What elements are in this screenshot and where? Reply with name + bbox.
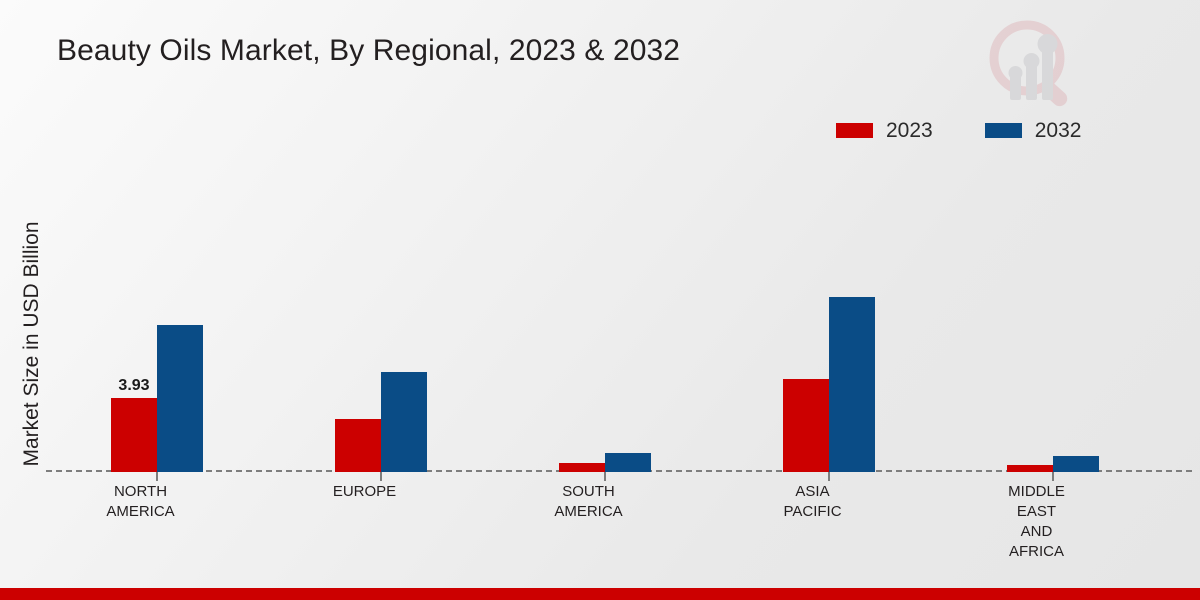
- axis-tick: [380, 472, 382, 481]
- category-line: EAST: [957, 502, 1117, 522]
- chart-title: Beauty Oils Market, By Regional, 2023 & …: [57, 34, 680, 68]
- axis-tick: [156, 472, 158, 481]
- legend-swatch-2032: [985, 123, 1022, 138]
- category-line: EUROPE: [285, 482, 445, 502]
- legend-label-2032: 2032: [1035, 120, 1082, 141]
- category-label-europe: EUROPE: [285, 482, 445, 502]
- bar-2032-south-america[interactable]: [605, 453, 651, 472]
- bar-2032-north-america[interactable]: [157, 325, 203, 472]
- bar-2023-europe[interactable]: [335, 419, 381, 472]
- category-line: SOUTH: [509, 482, 669, 502]
- footer-stripe: [0, 588, 1200, 600]
- bar-2023-south-america[interactable]: [559, 463, 605, 472]
- chart-canvas: Beauty Oils Market, By Regional, 2023 & …: [0, 0, 1200, 600]
- bar-group-asia-pacific: ASIA PACIFIC: [782, 170, 876, 472]
- legend-swatch-2023: [836, 123, 873, 138]
- category-line: PACIFIC: [733, 502, 893, 522]
- category-line: AND: [957, 522, 1117, 542]
- category-line: AMERICA: [509, 502, 669, 522]
- bar-group-north-america: 3.93 NORTH AMERICA: [110, 170, 204, 472]
- magnifier-icon: [994, 25, 1070, 109]
- plot-area: 3.93 NORTH AMERICA EUROPE SOUTH: [46, 170, 1192, 472]
- chart-legend: 2023 2032: [836, 120, 1081, 141]
- y-axis-title: Market Size in USD Billion: [20, 164, 44, 524]
- bar-2023-middle-east-and-africa[interactable]: [1007, 465, 1053, 472]
- bar-2023-north-america[interactable]: 3.93: [111, 398, 157, 472]
- category-line: ASIA: [733, 482, 893, 502]
- bar-chart-icon: [1009, 34, 1058, 100]
- bar-2032-middle-east-and-africa[interactable]: [1053, 456, 1099, 472]
- category-label-south-america: SOUTH AMERICA: [509, 482, 669, 522]
- bar-value-label: 3.93: [118, 377, 149, 395]
- axis-tick: [604, 472, 606, 481]
- category-line: NORTH: [61, 482, 221, 502]
- category-line: AMERICA: [61, 502, 221, 522]
- legend-item-2023[interactable]: 2023: [836, 120, 933, 141]
- bar-group-middle-east-and-africa: MIDDLE EAST AND AFRICA: [1006, 170, 1100, 472]
- legend-label-2023: 2023: [886, 120, 933, 141]
- bar-2032-europe[interactable]: [381, 372, 427, 472]
- bar-2023-asia-pacific[interactable]: [783, 379, 829, 472]
- legend-item-2032[interactable]: 2032: [985, 120, 1082, 141]
- bar-group-south-america: SOUTH AMERICA: [558, 170, 652, 472]
- category-line: AFRICA: [957, 542, 1117, 562]
- axis-tick: [828, 472, 830, 481]
- category-label-north-america: NORTH AMERICA: [61, 482, 221, 522]
- axis-tick: [1052, 472, 1054, 481]
- bar-2032-asia-pacific[interactable]: [829, 297, 875, 472]
- bar-group-europe: EUROPE: [334, 170, 428, 472]
- watermark-logo: [978, 14, 1086, 114]
- category-label-middle-east-and-africa: MIDDLE EAST AND AFRICA: [957, 482, 1117, 562]
- category-label-asia-pacific: ASIA PACIFIC: [733, 482, 893, 522]
- category-line: MIDDLE: [957, 482, 1117, 502]
